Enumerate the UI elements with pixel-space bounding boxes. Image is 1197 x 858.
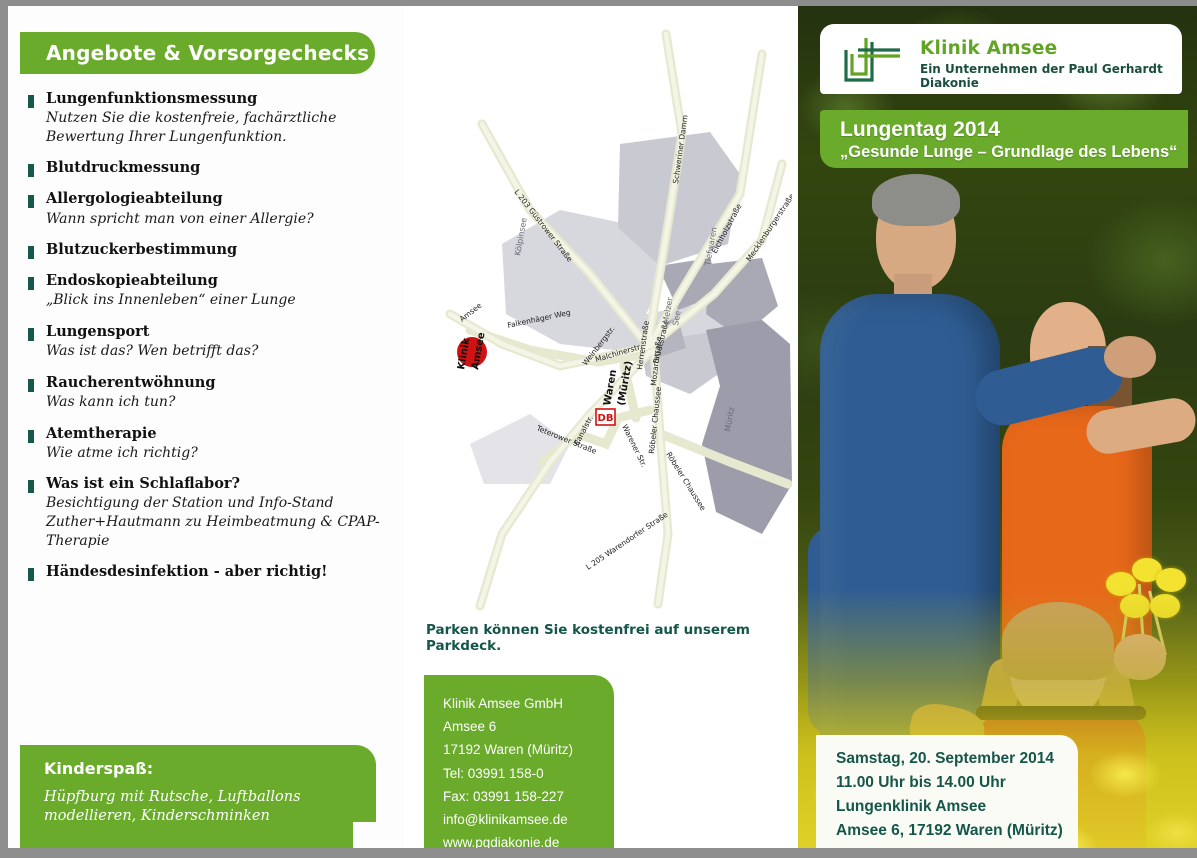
bullet-icon — [28, 164, 34, 177]
offers-header-banner: Angebote & Vorsorgechecks — [20, 32, 375, 74]
event-details-box: Samstag, 20. September 2014 11.00 Uhr bi… — [816, 735, 1078, 848]
logo-card: Klinik Amsee Ein Unternehmen der Paul Ge… — [820, 24, 1182, 94]
bullet-icon — [28, 480, 34, 493]
event-details-lines: Samstag, 20. September 2014 11.00 Uhr bi… — [836, 747, 1063, 843]
address-line: 17192 Waren (Müritz) — [443, 738, 573, 761]
offer-item: Endoskopieabteilung „Blick ins Innenlebe… — [22, 272, 394, 310]
offer-subtitle: Nutzen Sie die kostenfreie, fachärztlich… — [46, 109, 394, 146]
offer-item: Händesdesinfektion - aber richtig! — [22, 563, 394, 581]
logo-name: Klinik Amsee — [920, 38, 1182, 59]
paper: Angebote & Vorsorgechecks Lungenfunktion… — [8, 6, 1197, 848]
event-address: Amsee 6, 17192 Waren (Müritz) — [836, 819, 1063, 843]
offer-item: Lungensport Was ist das? Wen betrifft da… — [22, 323, 394, 361]
offers-list: Lungenfunktionsmessung Nutzen Sie die ko… — [22, 90, 394, 594]
bullet-icon — [28, 430, 34, 443]
offer-title: Lungensport — [46, 323, 394, 341]
kids-fun-title: Kinderspaß: — [44, 759, 153, 778]
address-line: Amsee 6 — [443, 715, 573, 738]
address-line: Tel: 03991 158-0 — [443, 762, 573, 785]
bullet-icon — [28, 195, 34, 208]
offer-title: Raucherentwöhnung — [46, 374, 394, 392]
offer-title: Lungenfunktionsmessung — [46, 90, 394, 108]
address-line: Klinik Amsee GmbH — [443, 692, 573, 715]
map-column: DB Schweriner Damm Eichholzstraße Meckle… — [404, 6, 798, 848]
event-title-banner: Lungentag 2014 „Gesunde Lunge – Grundlag… — [820, 110, 1188, 168]
offer-item: Blutzuckerbestimmung — [22, 241, 394, 259]
offer-title: Händesdesinfektion - aber richtig! — [46, 563, 394, 581]
offer-title: Blutdruckmessung — [46, 159, 394, 177]
offer-subtitle: Wie atme ich richtig? — [46, 444, 394, 463]
event-venue: Lungenklinik Amsee — [836, 795, 1063, 819]
offer-title: Allergologieabteilung — [46, 190, 394, 208]
event-title-line1: Lungentag 2014 — [840, 118, 1000, 142]
brochure-page: Angebote & Vorsorgechecks Lungenfunktion… — [0, 0, 1197, 858]
scan-edge-left — [0, 0, 8, 858]
bullet-icon — [28, 246, 34, 259]
address-lines: Klinik Amsee GmbH Amsee 6 17192 Waren (M… — [443, 692, 573, 848]
offers-column: Angebote & Vorsorgechecks Lungenfunktion… — [8, 6, 404, 848]
offer-subtitle: Wann spricht man von einer Allergie? — [46, 210, 394, 229]
address-box: Klinik Amsee GmbH Amsee 6 17192 Waren (M… — [424, 675, 614, 848]
offer-title: Was ist ein Schlaflabor? — [46, 475, 394, 493]
logo-text: Klinik Amsee Ein Unternehmen der Paul Ge… — [920, 38, 1182, 90]
cover-photo-column: Klinik Amsee Ein Unternehmen der Paul Ge… — [798, 6, 1197, 848]
offer-title: Endoskopieabteilung — [46, 272, 394, 290]
address-line: Fax: 03991 158-227 — [443, 785, 573, 808]
offer-item: Raucherentwöhnung Was kann ich tun? — [22, 374, 394, 412]
offer-title: Blutzuckerbestimmung — [46, 241, 394, 259]
bullet-icon — [28, 95, 34, 108]
offer-item: Atemtherapie Wie atme ich richtig? — [22, 425, 394, 463]
bullet-icon — [28, 277, 34, 290]
event-title-line2: „Gesunde Lunge – Grundlage des Lebens“ — [840, 143, 1177, 162]
offer-item: Blutdruckmessung — [22, 159, 394, 177]
offer-subtitle: Besichtigung der Station und Info-Stand … — [46, 494, 394, 550]
offer-item: Allergologieabteilung Wann spricht man v… — [22, 190, 394, 228]
bullet-icon — [28, 379, 34, 392]
offer-subtitle: Was kann ich tun? — [46, 393, 394, 412]
offer-item: Lungenfunktionsmessung Nutzen Sie die ko… — [22, 90, 394, 146]
address-website[interactable]: www.pgdiakonie.de — [443, 831, 573, 848]
parking-note: Parken können Sie kostenfrei auf unserem… — [426, 622, 786, 654]
svg-text:DB: DB — [598, 413, 614, 424]
logo-tagline: Ein Unternehmen der Paul Gerhardt Diakon… — [920, 62, 1182, 90]
location-map: DB Schweriner Damm Eichholzstraße Meckle… — [410, 14, 792, 614]
bullet-icon — [28, 328, 34, 341]
father-hair — [872, 174, 960, 226]
klinik-amsee-logo-icon — [842, 36, 904, 84]
offer-subtitle: „Blick ins Innenleben“ einer Lunge — [46, 291, 394, 310]
scan-strip-bottom — [0, 848, 1197, 858]
address-email[interactable]: info@klinikamsee.de — [443, 808, 573, 831]
offer-item: Was ist ein Schlaflabor? Besichtigung de… — [22, 475, 394, 550]
offer-title: Atemtherapie — [46, 425, 394, 443]
offers-header-title: Angebote & Vorsorgechecks — [46, 41, 369, 65]
father-right-hand — [1104, 336, 1156, 378]
event-time: 11.00 Uhr bis 14.00 Uhr — [836, 771, 1063, 795]
kids-fun-text: Hüpfburg mit Rutsche, Luftballons modell… — [44, 788, 362, 826]
bullet-icon — [28, 568, 34, 581]
kids-fun-box: Kinderspaß: Hüpfburg mit Rutsche, Luftba… — [20, 745, 376, 848]
offer-subtitle: Was ist das? Wen betrifft das? — [46, 342, 394, 361]
event-date: Samstag, 20. September 2014 — [836, 747, 1063, 771]
